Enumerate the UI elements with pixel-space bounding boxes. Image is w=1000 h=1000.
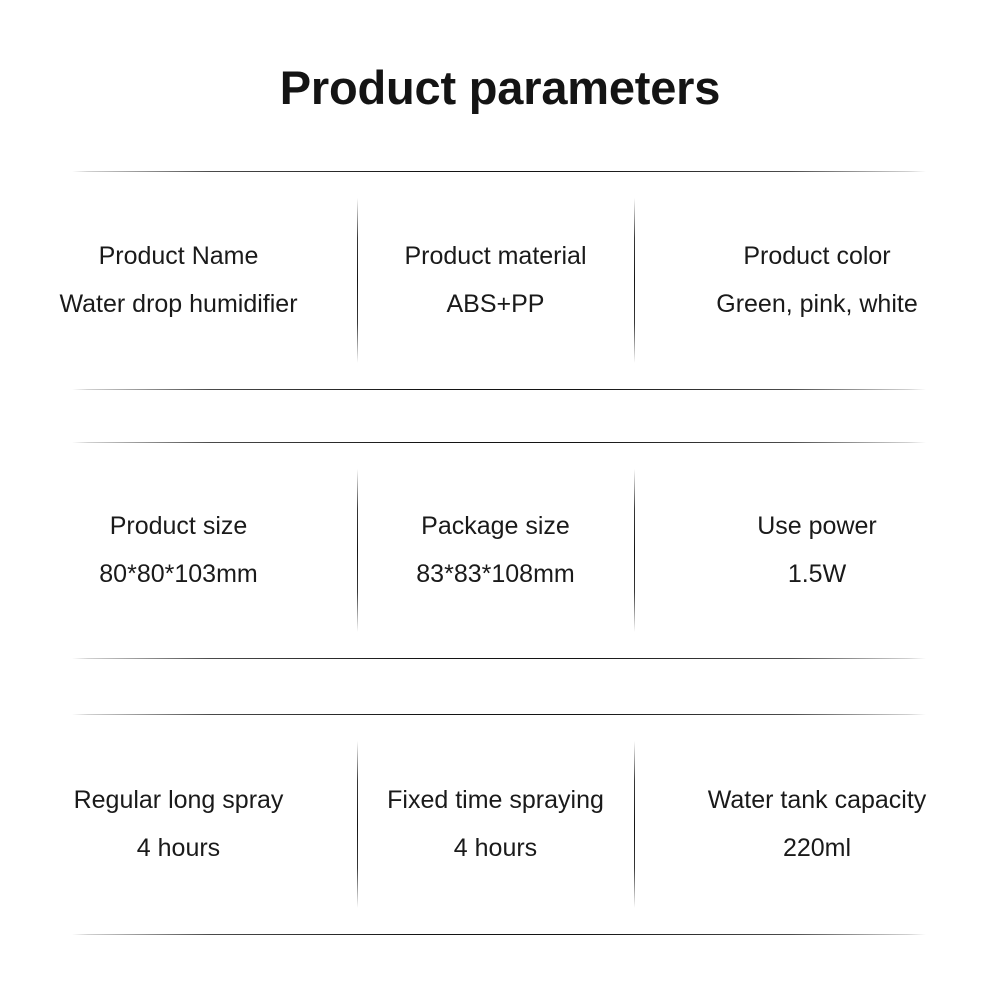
table-cell: Fixed time spraying 4 hours (357, 715, 634, 934)
table-cell: Regular long spray 4 hours (0, 715, 357, 934)
table-row: Product Name Water drop humidifier Produ… (0, 172, 1000, 389)
cell-value: 4 hours (454, 833, 537, 864)
table-cell: Water tank capacity 220ml (634, 715, 1000, 934)
cell-label: Use power (757, 511, 877, 542)
cell-value: Green, pink, white (716, 289, 918, 320)
product-parameters-page: Product parameters Product Name Water dr… (0, 0, 1000, 1000)
table-cell: Product material ABS+PP (357, 172, 634, 389)
cell-value: 4 hours (137, 833, 220, 864)
cell-value: 83*83*108mm (416, 559, 574, 590)
row-spacer (0, 659, 1000, 714)
table-cell: Product Name Water drop humidifier (0, 172, 357, 389)
table-rule (0, 658, 1000, 659)
cell-value: ABS+PP (447, 289, 545, 320)
cell-value: Water drop humidifier (59, 289, 297, 320)
table-row: Regular long spray 4 hours Fixed time sp… (0, 715, 1000, 934)
table-rule (0, 389, 1000, 390)
cell-label: Water tank capacity (708, 785, 927, 816)
cell-label: Regular long spray (74, 785, 284, 816)
cell-label: Product color (743, 241, 890, 272)
table-cell: Package size 83*83*108mm (357, 443, 634, 658)
cell-label: Product size (110, 511, 248, 542)
table-cell: Product size 80*80*103mm (0, 443, 357, 658)
cell-value: 80*80*103mm (99, 559, 257, 590)
cell-label: Product Name (99, 241, 259, 272)
table-rule-bottom (0, 934, 1000, 935)
table-cell: Product color Green, pink, white (634, 172, 1000, 389)
parameters-table: Product Name Water drop humidifier Produ… (0, 171, 1000, 935)
cell-value: 220ml (783, 833, 851, 864)
cell-label: Package size (421, 511, 570, 542)
table-row: Product size 80*80*103mm Package size 83… (0, 443, 1000, 658)
cell-value: 1.5W (788, 559, 846, 590)
page-title: Product parameters (0, 62, 1000, 115)
cell-label: Product material (404, 241, 586, 272)
cell-label: Fixed time spraying (387, 785, 604, 816)
table-cell: Use power 1.5W (634, 443, 1000, 658)
row-spacer (0, 390, 1000, 442)
